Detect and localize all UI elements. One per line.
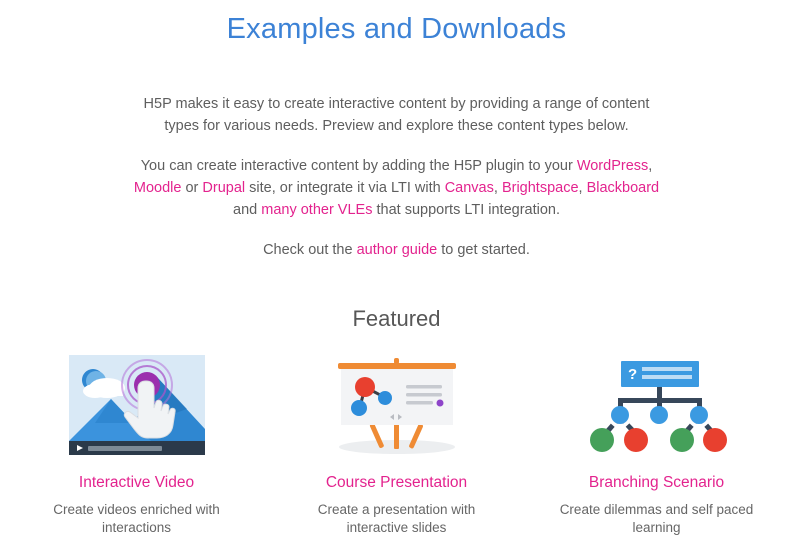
card-thumb-interactive-video[interactable] [7, 355, 267, 455]
intro-p2-comma-1: , [648, 158, 652, 174]
link-moodle[interactable]: Moodle [134, 180, 182, 196]
link-blackboard[interactable]: Blackboard [587, 180, 660, 196]
link-brightspace[interactable]: Brightspace [502, 180, 579, 196]
card-thumb-branching-scenario[interactable]: ? [527, 355, 787, 455]
intro-paragraph-3: Check out the author guide to get starte… [127, 239, 667, 261]
intro-p3-text-before: Check out the [263, 242, 357, 258]
link-drupal[interactable]: Drupal [202, 180, 245, 196]
card-description-interactive-video: Create videos enriched with interactions [37, 501, 237, 537]
svg-text:?: ? [628, 366, 637, 383]
card-title-course-presentation[interactable]: Course Presentation [267, 473, 527, 493]
card-description-course-presentation: Create a presentation with interactive s… [297, 501, 497, 537]
intro-p2-text-after-drupal: site, or integrate it via LTI with [245, 180, 445, 196]
card-description-branching-scenario: Create dilemmas and self paced learning [557, 501, 757, 537]
card-interactive-video[interactable]: Interactive Video Create videos enriched… [7, 355, 267, 537]
link-wordpress[interactable]: WordPress [577, 158, 648, 174]
page-root: Examples and Downloads H5P makes it easy… [0, 0, 793, 535]
link-many-other-vles[interactable]: many other VLEs [261, 202, 372, 218]
intro-p2-comma-3: , [579, 180, 587, 196]
intro-p2-tail-text: that supports LTI integration. [372, 202, 560, 218]
card-title-interactive-video[interactable]: Interactive Video [7, 473, 267, 493]
intro-p2-comma-2: , [494, 180, 502, 196]
featured-cards-list: Interactive Video Create videos enriched… [7, 333, 787, 537]
featured-heading: Featured [0, 261, 793, 333]
intro-p3-text-after: to get started. [437, 242, 530, 258]
page-title: Examples and Downloads [0, 0, 793, 47]
card-title-branching-scenario[interactable]: Branching Scenario [527, 473, 787, 493]
link-canvas[interactable]: Canvas [445, 180, 494, 196]
intro-p2-text-before-wordpress: You can create interactive content by ad… [141, 158, 577, 174]
intro-paragraph-2: You can create interactive content by ad… [127, 155, 667, 221]
intro-section: H5P makes it easy to create interactive … [127, 93, 667, 261]
branching-scenario-icon: ? [585, 355, 729, 455]
course-presentation-icon [332, 355, 462, 455]
intro-paragraph-1: H5P makes it easy to create interactive … [127, 93, 667, 137]
interactive-video-icon [69, 355, 205, 455]
card-thumb-course-presentation[interactable] [267, 355, 527, 455]
link-author-guide[interactable]: author guide [357, 242, 438, 258]
intro-p2-and-text: and [233, 202, 261, 218]
card-branching-scenario[interactable]: ? [527, 355, 787, 537]
intro-p2-text-between-moodle-drupal: or [181, 180, 202, 196]
card-course-presentation[interactable]: Course Presentation Create a presentatio… [267, 355, 527, 537]
